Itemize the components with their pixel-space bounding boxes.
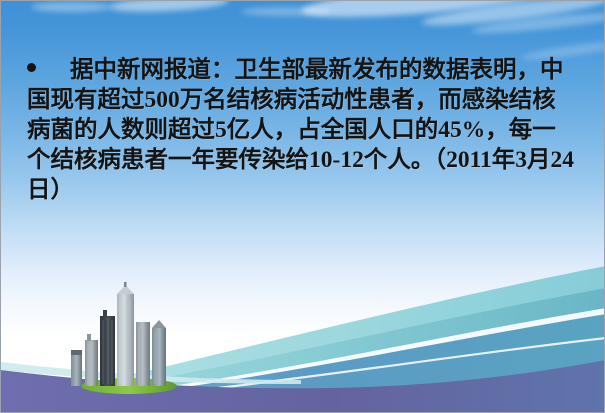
- building-dark-slab: [100, 316, 115, 386]
- building-mid: [136, 322, 150, 386]
- slide-text-body: 据中新网报道：卫生部最新发布的数据表明，中国现有超过500万名结核病活动性患者，…: [27, 55, 579, 205]
- building-small-left: [71, 354, 82, 386]
- city-skyline-icon: [59, 282, 189, 394]
- building-tallest: [117, 294, 134, 386]
- bullet-paragraph: 据中新网报道：卫生部最新发布的数据表明，中国现有超过500万名结核病活动性患者，…: [27, 55, 579, 205]
- paragraph-text: 据中新网报道：卫生部最新发布的数据表明，中国现有超过500万名结核病活动性患者，…: [27, 57, 574, 203]
- antenna: [124, 282, 127, 287]
- building-right: [152, 328, 166, 386]
- presentation-slide: 据中新网报道：卫生部最新发布的数据表明，中国现有超过500万名结核病活动性患者，…: [0, 0, 605, 413]
- building-short: [85, 340, 98, 386]
- bullet-point-icon: [27, 63, 36, 72]
